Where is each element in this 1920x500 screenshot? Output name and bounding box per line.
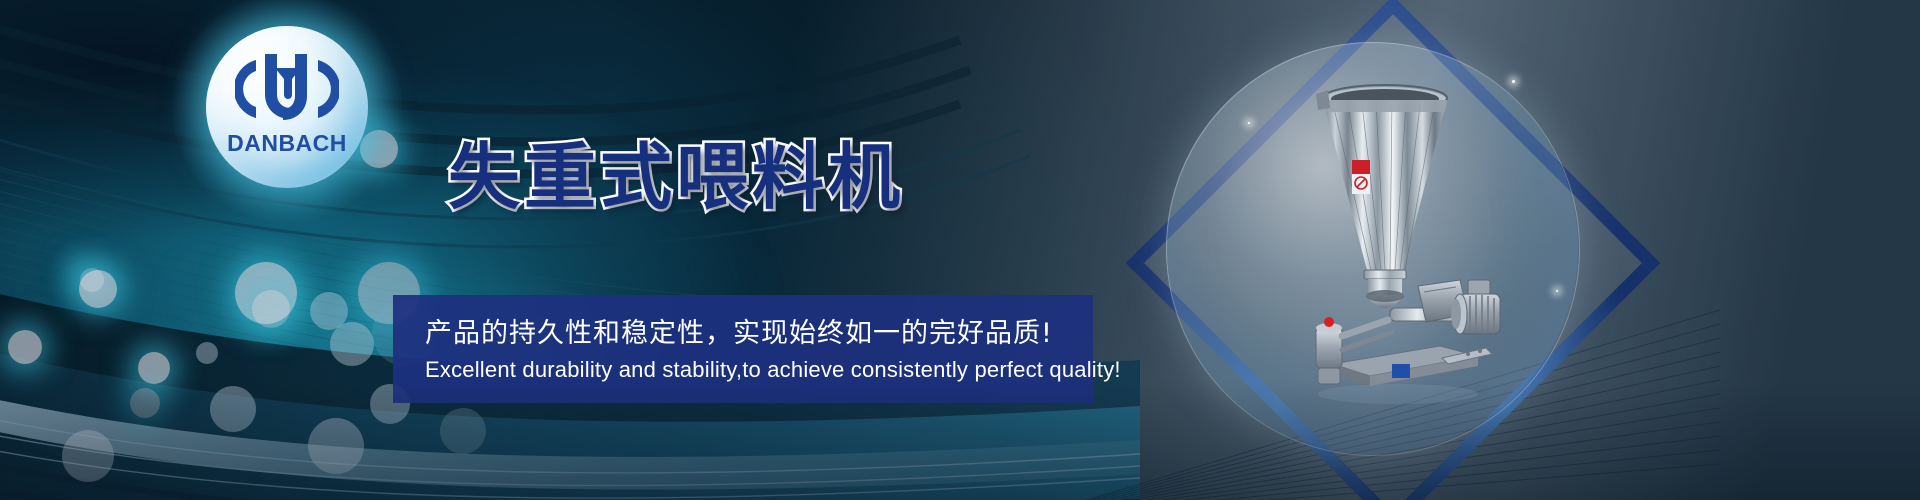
- product-banner: DANBACH 失重式喂料机 产品的持久性和稳定性，实现始终如一的完好品质! E…: [0, 0, 1920, 500]
- bokeh-circle: [440, 408, 486, 454]
- bokeh-circle: [308, 418, 364, 474]
- indicator-light: [1324, 317, 1334, 327]
- bokeh-circle: [196, 342, 218, 364]
- hopper-label-red: [1352, 160, 1370, 174]
- subtitle-english: Excellent durability and stability,to ac…: [425, 357, 1121, 383]
- bokeh-circle: [330, 322, 374, 366]
- logo-wordmark: DANBACH: [206, 130, 368, 157]
- danbach-monogram-icon: [235, 50, 339, 128]
- product-showcase: [1120, 0, 1640, 500]
- sparkle-icon: [1512, 80, 1515, 83]
- bokeh-circle: [62, 430, 114, 482]
- sparkle-icon: [1248, 122, 1250, 124]
- bokeh-circle: [138, 352, 170, 384]
- bokeh-circle: [210, 386, 256, 432]
- bokeh-circle: [130, 388, 160, 418]
- subtitle-box: 产品的持久性和稳定性，实现始终如一的完好品质! Excellent durabi…: [393, 295, 1093, 403]
- bokeh-circle: [8, 330, 42, 364]
- loss-in-weight-feeder-image: [1272, 64, 1502, 414]
- subtitle-chinese: 产品的持久性和稳定性，实现始终如一的完好品质!: [425, 311, 1053, 350]
- accent-block: [1392, 364, 1410, 378]
- sparkle-icon: [1556, 290, 1558, 292]
- page-title: 失重式喂料机: [448, 118, 904, 223]
- danbach-logo[interactable]: DANBACH: [206, 26, 368, 188]
